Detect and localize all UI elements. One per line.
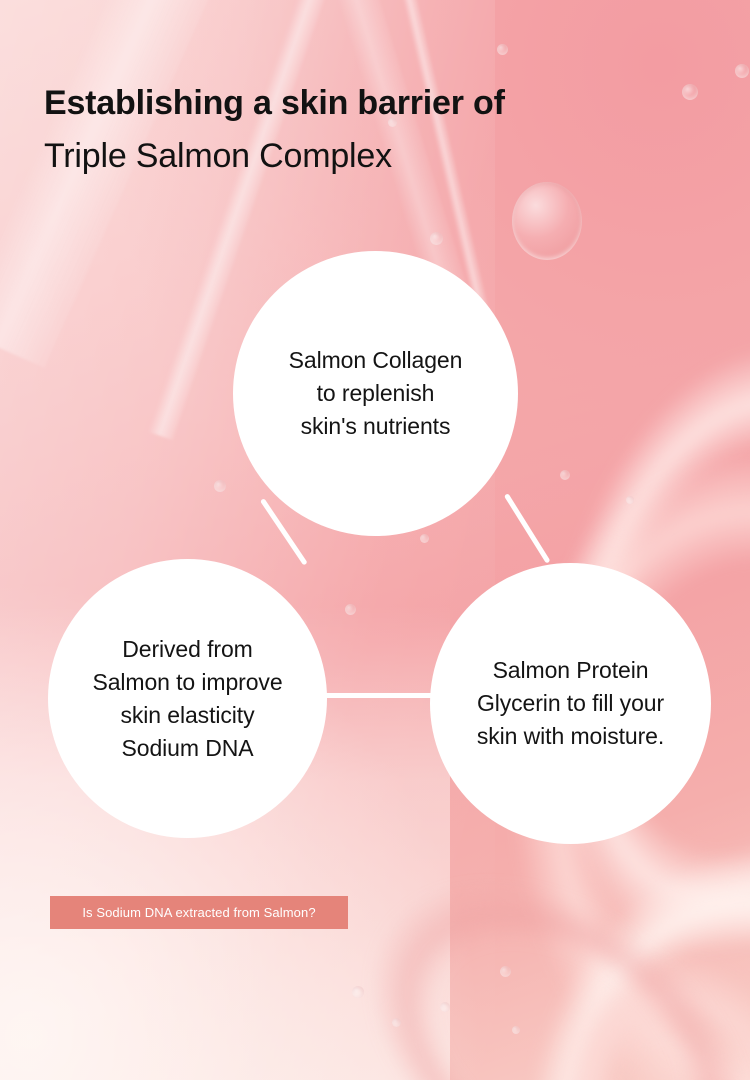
bubble-line: Salmon to improve (92, 666, 282, 699)
bubble-salmon-collagen-text: Salmon Collagen to replenish skin's nutr… (275, 344, 477, 443)
connector-line-bottom (314, 693, 442, 698)
bubble-line: Sodium DNA (92, 732, 282, 765)
bubble-sodium-dna: Derived from Salmon to improve skin elas… (48, 559, 327, 838)
bubble-salmon-protein-glycerin: Salmon Protein Glycerin to fill your ski… (430, 563, 711, 844)
bubble-line: Glycerin to fill your (477, 687, 664, 720)
bubble-line: skin elasticity (92, 699, 282, 732)
question-banner: Is Sodium DNA extracted from Salmon? (50, 896, 348, 929)
bubble-salmon-protein-glycerin-text: Salmon Protein Glycerin to fill your ski… (463, 654, 678, 753)
bubble-line: skin with moisture. (477, 720, 664, 753)
product-info-poster: Establishing a skin barrier of Triple Sa… (0, 0, 750, 1080)
bubble-line: Salmon Protein (477, 654, 664, 687)
bubble-line: Salmon Collagen (289, 344, 463, 377)
bubble-line: Derived from (92, 633, 282, 666)
connector-line-top-right (504, 493, 551, 563)
bubble-salmon-collagen: Salmon Collagen to replenish skin's nutr… (233, 251, 518, 536)
bubble-line: to replenish (289, 377, 463, 410)
bubble-line: skin's nutrients (289, 410, 463, 443)
bubble-sodium-dna-text: Derived from Salmon to improve skin elas… (78, 633, 296, 765)
question-banner-label: Is Sodium DNA extracted from Salmon? (82, 905, 315, 920)
